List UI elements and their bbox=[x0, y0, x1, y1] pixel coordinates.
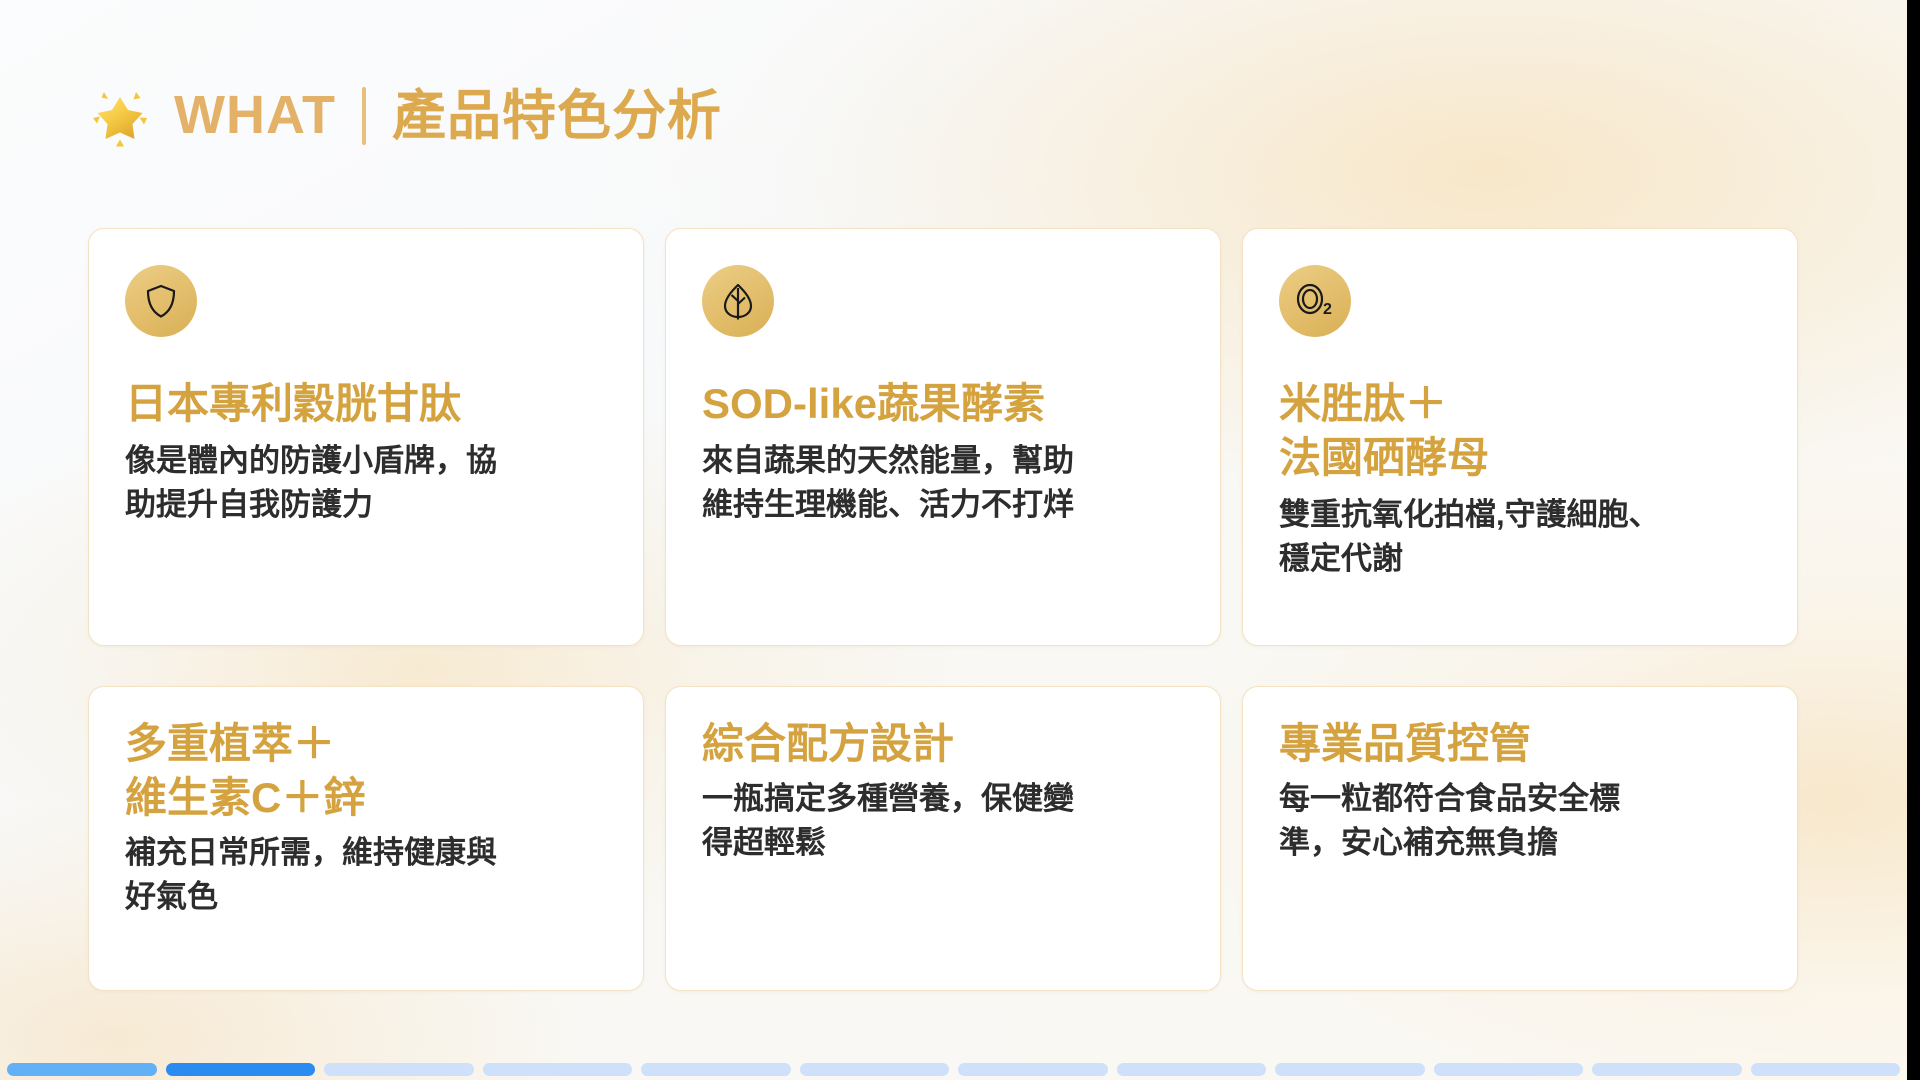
card-body: 補充日常所需，維持健康與 好氣色 bbox=[125, 831, 607, 919]
progress-segment[interactable] bbox=[7, 1063, 157, 1076]
feature-card[interactable]: 2 米胜肽＋ 法國硒酵母 雙重抗氧化拍檔,守護細胞、 穩定代謝 bbox=[1242, 228, 1798, 646]
page-title: 產品特色分析 bbox=[392, 89, 722, 143]
feature-card-grid: 日本專利穀胱甘肽 像是體內的防護小盾牌，協 助提升自我防護力 SOD-like蔬… bbox=[88, 228, 1798, 991]
shield-icon bbox=[125, 265, 197, 337]
card-body: 像是體內的防護小盾牌，協 助提升自我防護力 bbox=[125, 439, 607, 527]
progress-segment[interactable] bbox=[1275, 1063, 1425, 1076]
progress-segment[interactable] bbox=[483, 1063, 633, 1076]
feature-card[interactable]: 多重植萃＋ 維生素C＋鋅 補充日常所需，維持健康與 好氣色 bbox=[88, 686, 644, 991]
slide-header: WHAT 產品特色分析 bbox=[88, 84, 722, 148]
card-title: 綜合配方設計 bbox=[702, 717, 1184, 771]
feature-card[interactable]: SOD-like蔬果酵素 來自蔬果的天然能量，幫助 維持生理機能、活力不打烊 bbox=[665, 228, 1221, 646]
progress-segment[interactable] bbox=[800, 1063, 950, 1076]
card-body: 來自蔬果的天然能量，幫助 維持生理機能、活力不打烊 bbox=[702, 439, 1184, 527]
feature-card[interactable]: 綜合配方設計 一瓶搞定多種營養，保健變 得超輕鬆 bbox=[665, 686, 1221, 991]
header-eyebrow: WHAT bbox=[174, 88, 336, 144]
slide-progress-bar[interactable] bbox=[0, 1062, 1907, 1080]
feature-card[interactable]: 日本專利穀胱甘肽 像是體內的防護小盾牌，協 助提升自我防護力 bbox=[88, 228, 644, 646]
feature-card[interactable]: 專業品質控管 每一粒都符合食品安全標 準，安心補充無負擔 bbox=[1242, 686, 1798, 991]
progress-segment[interactable] bbox=[324, 1063, 474, 1076]
card-body: 雙重抗氧化拍檔,守護細胞、 穩定代謝 bbox=[1279, 493, 1761, 581]
progress-segment[interactable] bbox=[641, 1063, 791, 1076]
progress-segment[interactable] bbox=[1117, 1063, 1267, 1076]
leaf-icon bbox=[702, 265, 774, 337]
card-title: 專業品質控管 bbox=[1279, 717, 1761, 771]
card-body: 每一粒都符合食品安全標 準，安心補充無負擔 bbox=[1279, 777, 1761, 865]
progress-segment[interactable] bbox=[1751, 1063, 1901, 1076]
progress-segment-active[interactable] bbox=[166, 1063, 316, 1076]
progress-segment[interactable] bbox=[1592, 1063, 1742, 1076]
glowing-star-icon bbox=[88, 84, 152, 148]
card-title: 多重植萃＋ 維生素C＋鋅 bbox=[125, 717, 607, 825]
progress-segment[interactable] bbox=[958, 1063, 1108, 1076]
header-divider bbox=[362, 87, 366, 145]
o2-oxygen-icon: 2 bbox=[1279, 265, 1351, 337]
right-edge-bar bbox=[1907, 0, 1920, 1080]
svg-text:2: 2 bbox=[1323, 301, 1332, 318]
slide-canvas: WHAT 產品特色分析 日本專利穀胱甘肽 像是體內的防護小盾牌，協 助提升自我防… bbox=[0, 0, 1907, 1080]
card-body: 一瓶搞定多種營養，保健變 得超輕鬆 bbox=[702, 777, 1184, 865]
card-title: 米胜肽＋ 法國硒酵母 bbox=[1279, 377, 1761, 485]
progress-segment[interactable] bbox=[1434, 1063, 1584, 1076]
card-title: SOD-like蔬果酵素 bbox=[702, 377, 1184, 431]
card-title: 日本專利穀胱甘肽 bbox=[125, 377, 607, 431]
